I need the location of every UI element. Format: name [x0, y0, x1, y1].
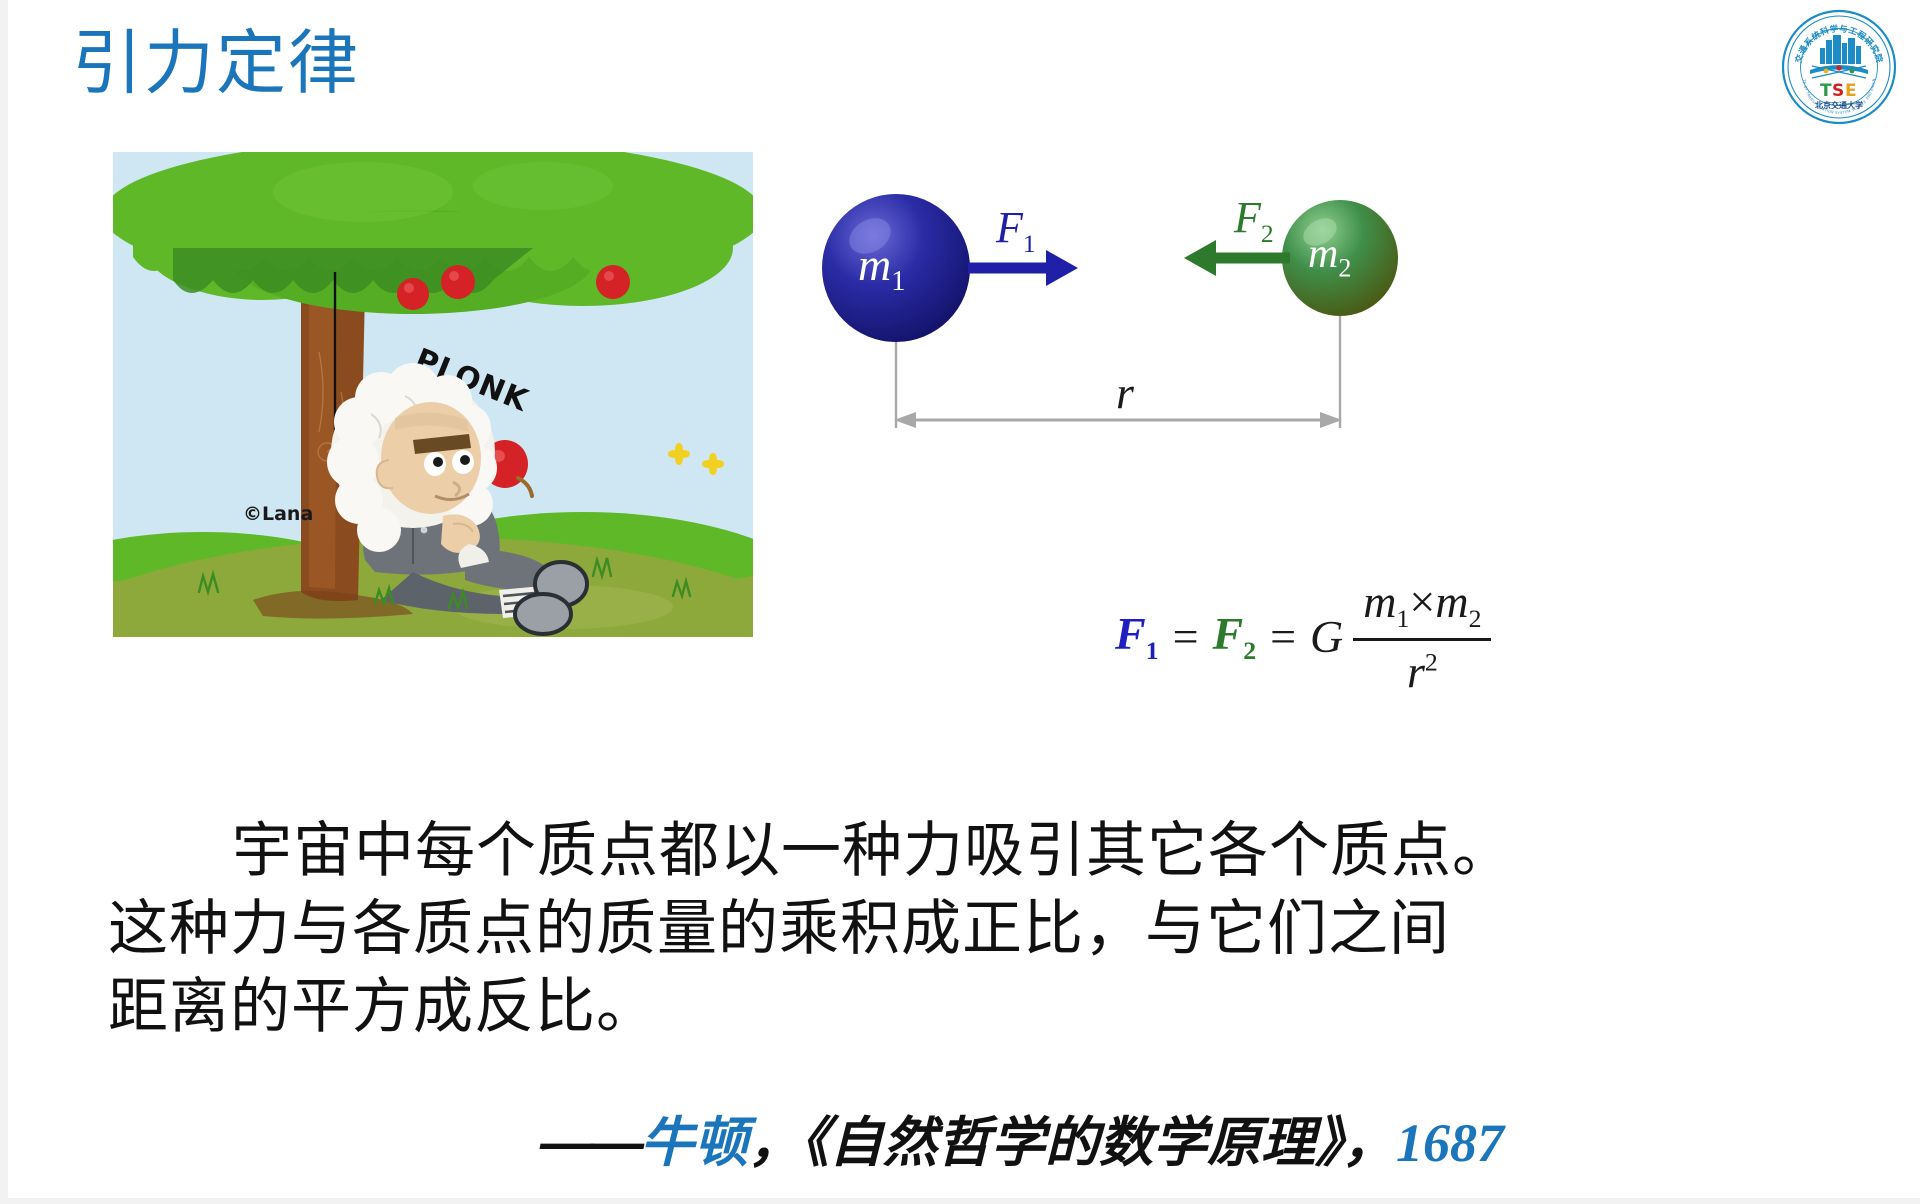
newton-apple-tree-illustration: PLONK [113, 152, 753, 637]
shoe-front [515, 594, 571, 634]
attribution-author: 牛顿 [640, 1113, 748, 1173]
formula-denominator: r2 [1407, 641, 1438, 698]
mass2-sphere [1282, 200, 1398, 316]
force2-label: F2 [1234, 192, 1274, 249]
attribution-comma-2: ， [1342, 1113, 1396, 1173]
distance-label: r [1116, 366, 1134, 419]
mass1-sphere [822, 194, 970, 342]
formula-equals-2: = [1270, 610, 1296, 663]
page-title: 引力定律 [72, 28, 360, 98]
body-line-2: 这种力与各质点的质量的乘积成正比，与它们之间 [108, 890, 1808, 968]
logo-svg: 交通系统科学与工程研究院 INSTITUTE OF TRANSPORTATION… [1780, 8, 1898, 126]
slide-left-edge [0, 0, 8, 1204]
formula-f1: F1 [1115, 607, 1159, 666]
formula-g: G [1310, 610, 1343, 663]
slide-bottom-edge [0, 1198, 1920, 1204]
illustration-svg: PLONK [113, 152, 753, 637]
body-line-3: 距离的平方成反比。 [108, 968, 1808, 1046]
tse-institute-logo: 交通系统科学与工程研究院 INSTITUTE OF TRANSPORTATION… [1780, 8, 1898, 126]
attribution-year: 1687 [1396, 1113, 1504, 1173]
force1-label: F1 [996, 202, 1036, 259]
svg-text:S: S [1832, 81, 1844, 101]
formula-numerator: m1×m2 [1353, 575, 1491, 641]
formula-equals-1: = [1173, 610, 1199, 663]
gravity-force-diagram: m1 m2 F1 F2 r [800, 180, 1420, 470]
formula-fraction: m1×m2 r2 [1353, 575, 1491, 698]
attribution-comma-1: ， [748, 1113, 802, 1173]
attribution-line: ——牛顿，《自然哲学的数学原理》，1687 [540, 1098, 1504, 1177]
attribution-work: 《自然哲学的数学原理》 [802, 1113, 1342, 1173]
body-line-1: 宇宙中每个质点都以一种力吸引其它各个质点。 [108, 812, 1808, 890]
watermark: ©Lana [243, 503, 313, 525]
attribution-dash: —— [540, 1113, 640, 1173]
slide-canvas: 引力定律 交通系统科学与工程研究院 INSTITUTE OF TRANSPORT… [0, 0, 1920, 1204]
svg-text:E: E [1845, 81, 1857, 101]
gravitation-formula: F1 = F2 = G m1×m2 r2 [1115, 575, 1491, 698]
diagram-svg [800, 180, 1420, 470]
svg-text:T: T [1820, 81, 1832, 101]
svg-text:北京交通大学: 北京交通大学 [1815, 100, 1863, 110]
tree-foliage [113, 152, 753, 314]
body-paragraph: 宇宙中每个质点都以一种力吸引其它各个质点。 这种力与各质点的质量的乘积成正比，与… [108, 812, 1808, 1046]
formula-f2: F2 [1213, 607, 1257, 666]
